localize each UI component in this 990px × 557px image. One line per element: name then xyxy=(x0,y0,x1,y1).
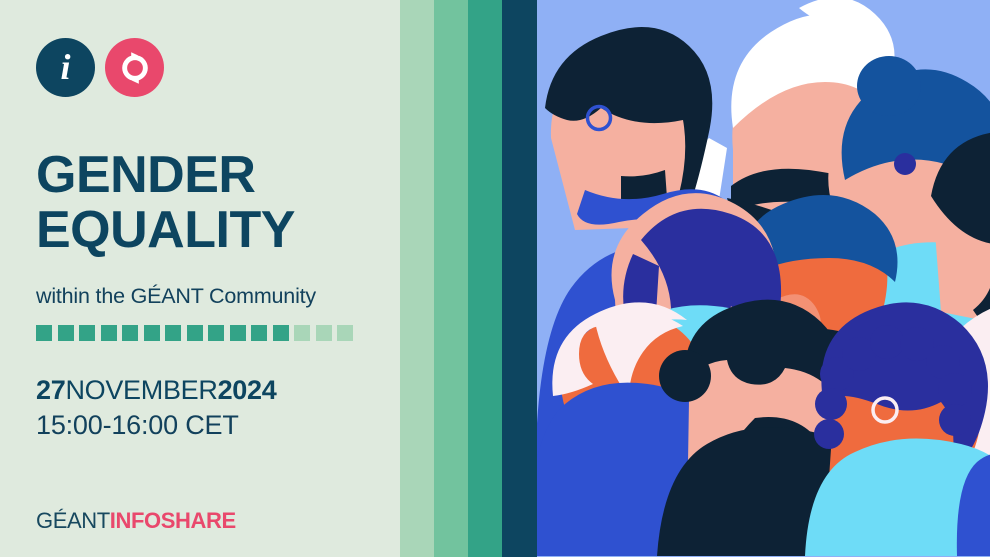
stripe-navy xyxy=(502,0,537,557)
info-icon: i xyxy=(36,38,95,97)
dash-filled xyxy=(251,325,267,341)
stripe-green-teal xyxy=(468,0,502,557)
dash-filled xyxy=(165,325,181,341)
dash-empty xyxy=(337,325,353,341)
dash-progress-row xyxy=(36,325,353,341)
stripe-green-pale xyxy=(400,0,434,557)
icon-row: i xyxy=(36,38,164,97)
logo-infoshare: INFOSHARE xyxy=(110,508,236,533)
dash-filled xyxy=(122,325,138,341)
headline-line-2: EQUALITY xyxy=(36,203,295,258)
event-time: 15:00-16:00 CET xyxy=(36,410,239,441)
stripe-green-mid xyxy=(434,0,468,557)
logo-geant: GÉANT xyxy=(36,508,110,533)
event-date: 27NOVEMBER2024 xyxy=(36,375,276,406)
dash-filled xyxy=(230,325,246,341)
event-day: 27 xyxy=(36,375,65,405)
dash-filled xyxy=(36,325,52,341)
dash-filled xyxy=(187,325,203,341)
info-icon-glyph: i xyxy=(60,49,70,85)
dash-empty xyxy=(316,325,332,341)
dash-empty xyxy=(294,325,310,341)
dash-filled xyxy=(208,325,224,341)
page-title: GENDER EQUALITY xyxy=(36,148,295,257)
dash-filled xyxy=(79,325,95,341)
share-refresh-icon xyxy=(105,38,164,97)
brand-logo: GÉANTINFOSHARE xyxy=(36,508,236,534)
dash-filled xyxy=(144,325,160,341)
dash-filled xyxy=(273,325,289,341)
headline-line-1: GENDER xyxy=(36,146,255,204)
dash-filled xyxy=(58,325,74,341)
event-month: NOVEMBER xyxy=(65,375,217,405)
poster-root: i GENDER EQUALITY within the GÉANT Commu… xyxy=(0,0,990,557)
subtitle: within the GÉANT Community xyxy=(36,284,316,309)
event-year: 2024 xyxy=(218,375,277,405)
content-panel: i GENDER EQUALITY within the GÉANT Commu… xyxy=(0,0,400,557)
crowd-illustration xyxy=(537,0,990,557)
dash-filled xyxy=(101,325,117,341)
